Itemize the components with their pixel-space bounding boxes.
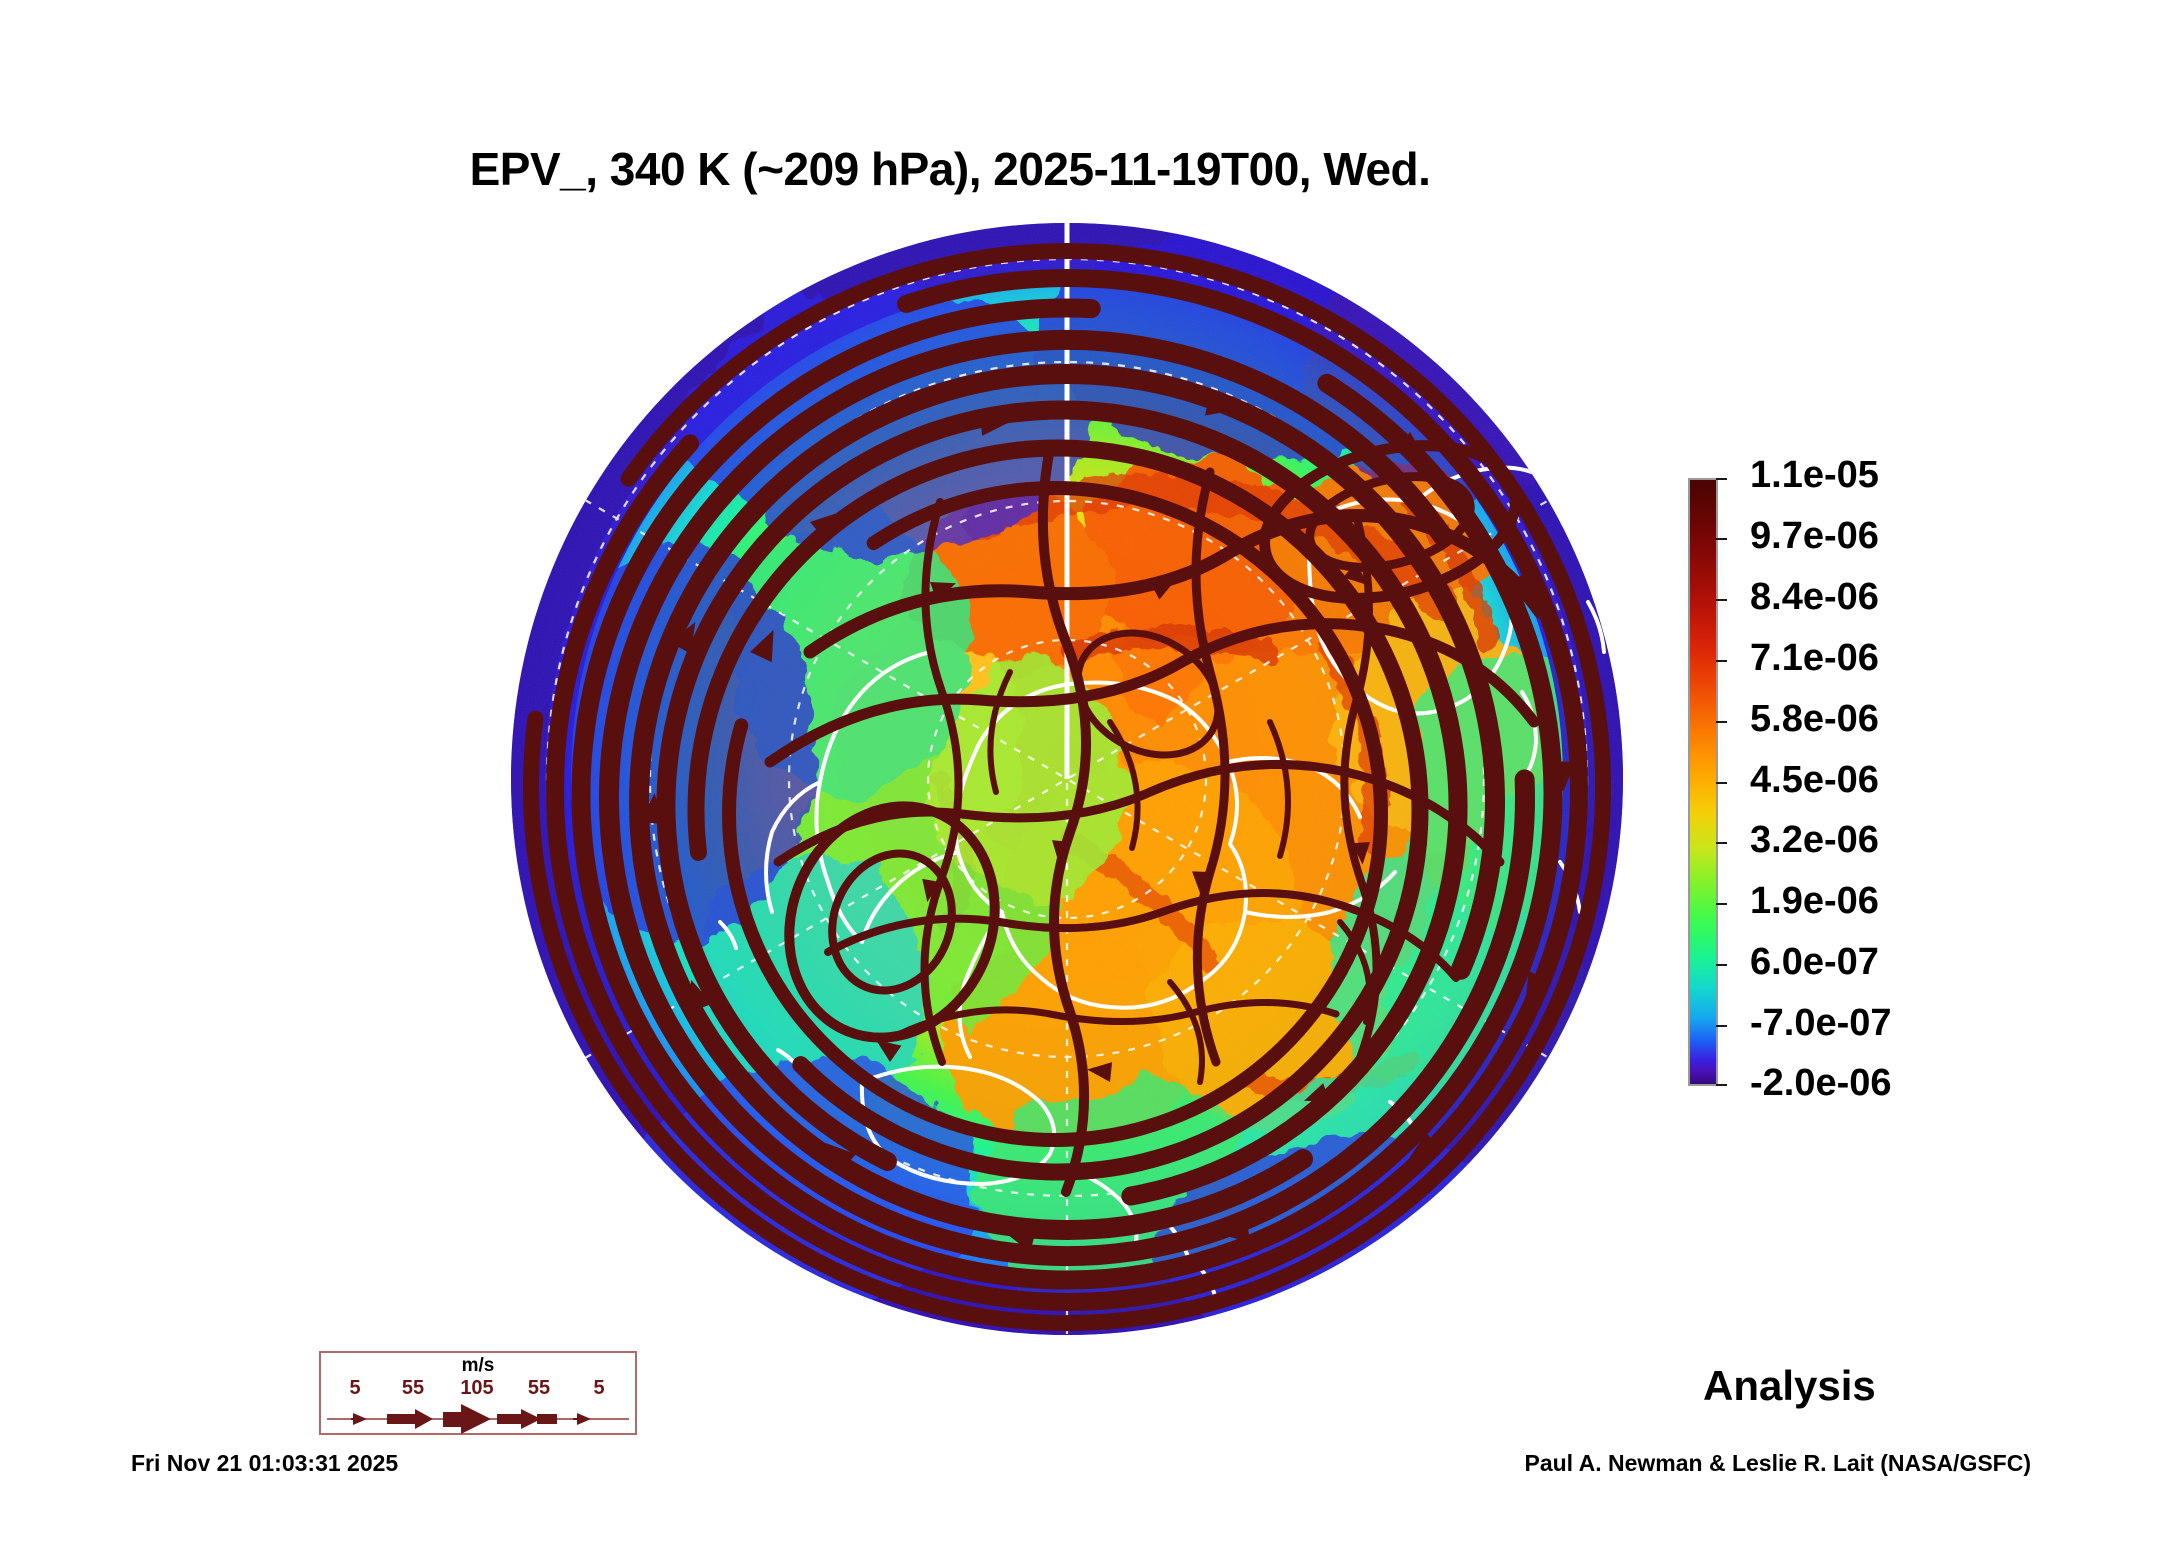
analysis-label: Analysis: [1703, 1362, 1876, 1410]
colorbar-ticks: [1716, 478, 1728, 1086]
colorbar-label: 8.4e-06: [1750, 578, 1879, 616]
colorbar: 1.1e-05 9.7e-06 8.4e-06 7.1e-06 5.8e-06 …: [1688, 472, 2108, 1092]
colorbar-tick: [1716, 660, 1727, 662]
colorbar-label: 3.2e-06: [1750, 821, 1879, 859]
wind-legend-value: 105: [451, 1377, 503, 1400]
wind-legend-value: 55: [387, 1377, 439, 1400]
globe-field: [510, 222, 1624, 1336]
colorbar-tick: [1716, 1025, 1727, 1027]
polar-map: [510, 222, 1624, 1336]
colorbar-tick: [1716, 903, 1727, 905]
colorbar-label: 9.7e-06: [1750, 517, 1879, 555]
page-title: EPV_, 340 K (~209 hPa), 2025-11-19T00, W…: [0, 142, 1900, 196]
wind-legend-unit-label: m/s: [321, 1355, 635, 1377]
author-credits: Paul A. Newman & Leslie R. Lait (NASA/GS…: [1524, 1450, 2031, 1477]
generation-timestamp: Fri Nov 21 01:03:31 2025: [131, 1450, 398, 1477]
colorbar-tick: [1716, 478, 1727, 480]
colorbar-tick: [1716, 599, 1727, 601]
colorbar-label: 1.1e-05: [1750, 456, 1879, 494]
colorbar-label: -2.0e-06: [1750, 1064, 1892, 1102]
colorbar-tick: [1716, 1084, 1727, 1086]
colorbar-tick: [1716, 782, 1727, 784]
colorbar-tick: [1716, 842, 1727, 844]
wind-legend-arrows: [321, 1403, 635, 1435]
colorbar-label: 1.9e-06: [1750, 882, 1879, 920]
map-canvas: [510, 222, 1624, 1336]
colorbar-label: -7.0e-07: [1750, 1004, 1892, 1042]
colorbar-tick: [1716, 964, 1727, 966]
colorbar-tick: [1716, 721, 1727, 723]
colorbar-label: 7.1e-06: [1750, 639, 1879, 677]
wind-legend-value: 55: [513, 1377, 565, 1400]
colorbar-label: 4.5e-06: [1750, 761, 1879, 799]
wind-speed-legend: m/s 5 55 105 55 5: [319, 1351, 637, 1435]
wind-legend-value: 5: [573, 1377, 625, 1400]
colorbar-tick: [1716, 538, 1727, 540]
colorbar-label: 6.0e-07: [1750, 943, 1879, 981]
colorbar-label: 5.8e-06: [1750, 700, 1879, 738]
colorbar-gradient: [1688, 478, 1718, 1086]
colorbar-labels: 1.1e-05 9.7e-06 8.4e-06 7.1e-06 5.8e-06 …: [1750, 472, 2080, 1092]
wind-legend-value: 5: [329, 1377, 381, 1400]
